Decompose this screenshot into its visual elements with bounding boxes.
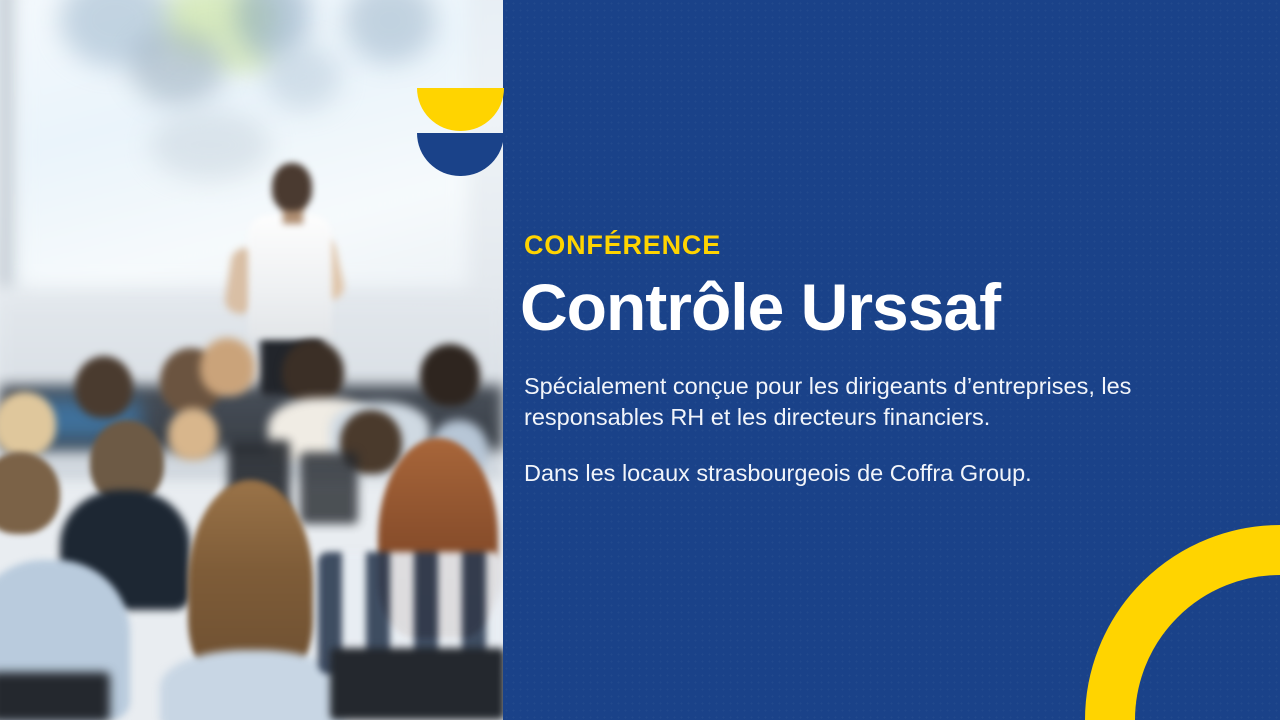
description-paragraph-1: Spécialement conçue pour les dirigeants … (524, 371, 1214, 434)
speaker-body (248, 215, 332, 340)
logo-bottom-half-circle (417, 133, 504, 176)
screen-figure-4 (130, 30, 225, 105)
audience-head-back-4 (282, 340, 344, 404)
screen-figure-6 (265, 45, 340, 110)
description-paragraph-2: Dans les locaux strasbourgeois de Coffra… (524, 458, 1214, 489)
speaker-head (272, 163, 312, 211)
kicker-label: CONFÉRENCE (524, 232, 721, 259)
text-block: CONFÉRENCE Contrôle Urssaf Spécialement … (524, 0, 1224, 720)
chair-back-2 (300, 452, 358, 524)
page-title: Contrôle Urssaf (520, 272, 1000, 343)
chair-front-right (330, 648, 503, 720)
audience-head-back-1 (75, 356, 133, 418)
audience-head-mid-2 (168, 408, 218, 460)
audience-head-mid-1 (0, 392, 56, 456)
audience-head-back-3 (200, 338, 255, 396)
logo-top-half-circle (417, 88, 504, 131)
half-circle-stack-logo-icon (417, 88, 504, 176)
chair-front-left (0, 672, 110, 720)
conference-banner: CONFÉRENCE Contrôle Urssaf Spécialement … (0, 0, 1280, 720)
audience-head-back-5 (420, 344, 480, 406)
content-panel: CONFÉRENCE Contrôle Urssaf Spécialement … (503, 0, 1280, 720)
screen-figure-5 (150, 110, 270, 180)
